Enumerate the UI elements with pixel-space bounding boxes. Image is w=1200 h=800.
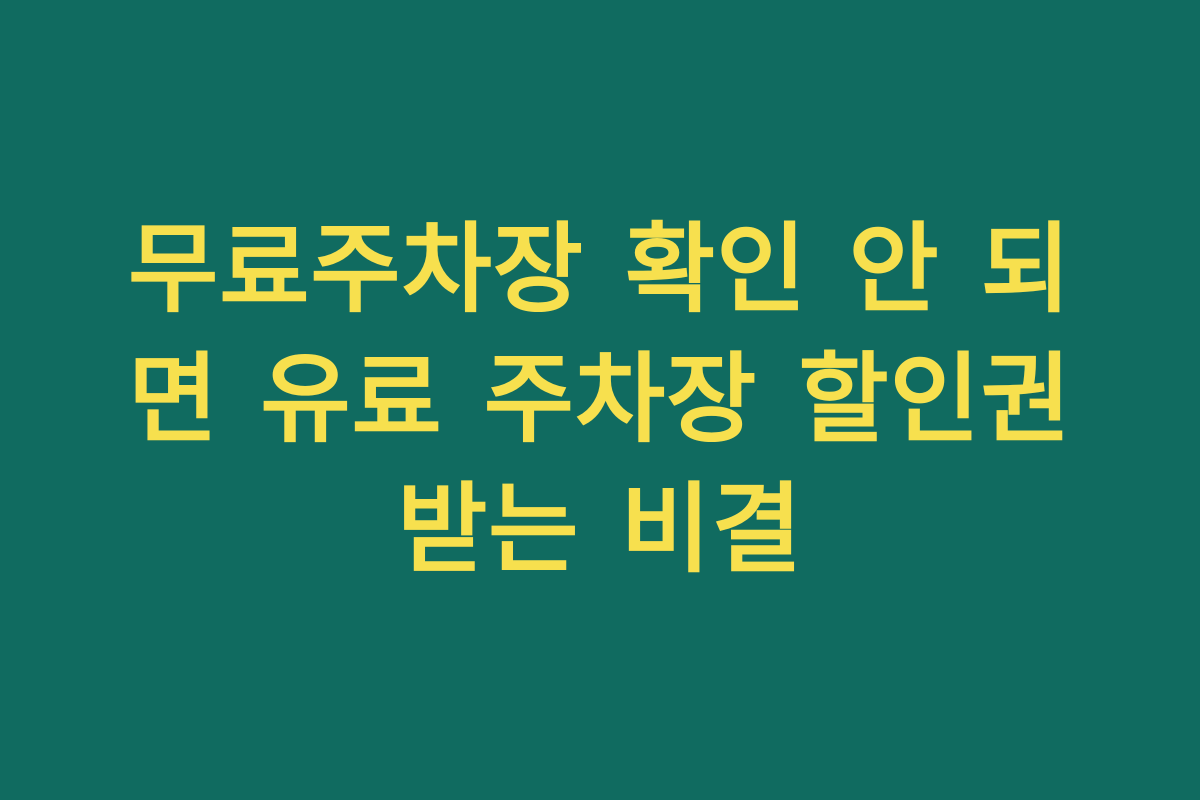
text-card: 무료주차장 확인 안 되 면 유료 주차장 할인권 받는 비결 [0,0,1200,800]
headline-line-1: 무료주차장 확인 안 되 [100,205,1100,335]
headline: 무료주차장 확인 안 되 면 유료 주차장 할인권 받는 비결 [100,205,1100,595]
headline-line-2: 면 유료 주차장 할인권 [100,335,1100,465]
headline-line-3: 받는 비결 [100,465,1100,595]
